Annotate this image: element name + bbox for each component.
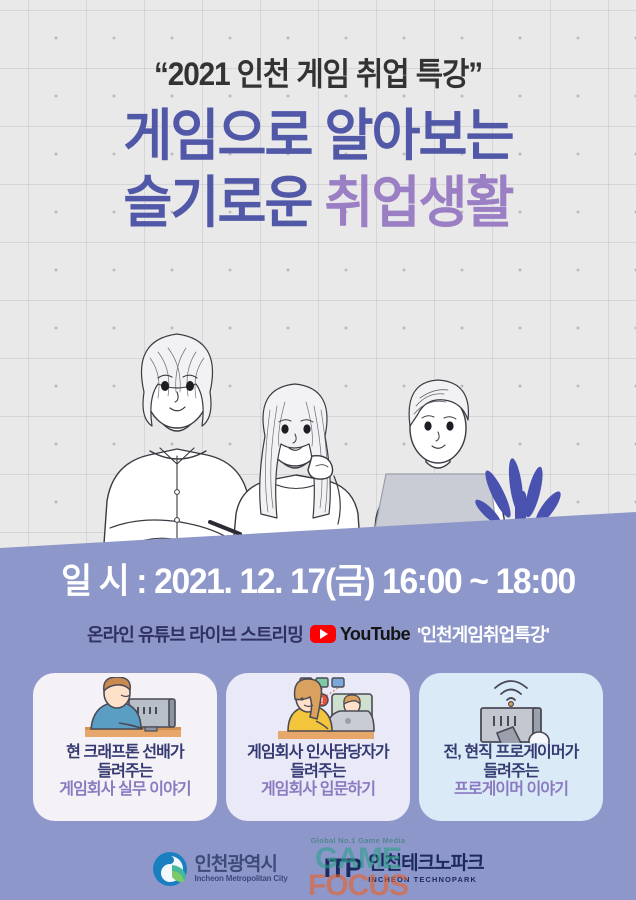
stream-info-row: 온라인 유튜브 라이브 스트리밍 YouTube '인천게임취업특강'	[0, 621, 636, 647]
session-card-2[interactable]: ! 게임회사 인사담당자가 들려주는 게임회사 입문하기	[226, 673, 410, 821]
itp-logo: ITP 인천테크노파크 INCHEON TECHNOPARK	[324, 854, 484, 884]
person-at-desktop-icon	[33, 677, 217, 743]
incheon-swirl-icon	[152, 851, 188, 887]
card-1-line-3: 게임회사 실무 이야기	[33, 781, 217, 800]
youtube-channel-name: '인천게임취업특강'	[417, 621, 549, 647]
video-call-icon: !	[226, 677, 410, 743]
session-card-1[interactable]: 현 크래프톤 선배가 들려주는 게임회사 실무 이야기	[33, 673, 217, 821]
poster-kicker: “2021 인천 게임 취업 특강”	[22, 58, 613, 90]
card-1-line-1: 현 크래프톤 선배가	[33, 744, 217, 763]
card-1-line-2: 들려주는	[33, 763, 217, 782]
poster-title-line1: 게임으로 알아보는	[16, 107, 620, 164]
session-cards: 현 크래프톤 선배가 들려주는 게임회사 실무 이야기 !	[33, 673, 603, 821]
session-card-3[interactable]: 전, 현직 프로게이머가 들려주는 프로게이머 이야기	[419, 673, 603, 821]
incheon-city-logo: 인천광역시 Incheon Metropolitan City	[152, 851, 287, 887]
monitor-wifi-icon	[419, 677, 603, 743]
event-poster: “2021 인천 게임 취업 특강” 게임으로 알아보는 슬기로운 취업생활	[0, 0, 636, 900]
youtube-wordmark: YouTube	[340, 624, 410, 645]
card-3-line-3: 프로게이머 이야기	[419, 781, 603, 800]
poster-title-line2-part-b: 취업생활	[324, 171, 512, 234]
incheon-logo-en: Incheon Metropolitan City	[194, 874, 287, 883]
card-3-line-1: 전, 현직 프로게이머가	[419, 744, 603, 763]
session-card-3-text: 전, 현직 프로게이머가 들려주는 프로게이머 이야기	[419, 744, 603, 800]
poster-title-line2: 슬기로운 취업생활	[16, 174, 620, 231]
card-3-line-2: 들려주는	[419, 763, 603, 782]
event-datetime: 일 시 : 2021. 12. 17(금) 16:00 ~ 18:00	[13, 564, 624, 599]
itp-logo-kr: 인천테크노파크	[368, 854, 483, 875]
card-2-line-3: 게임회사 입문하기	[226, 781, 410, 800]
card-2-line-1: 게임회사 인사담당자가	[226, 744, 410, 763]
footer-logos: 인천광역시 Incheon Metropolitan City ITP 인천테크…	[0, 838, 636, 900]
session-card-2-text: 게임회사 인사담당자가 들려주는 게임회사 입문하기	[226, 744, 410, 800]
poster-title-line2-part-a: 슬기로운	[123, 171, 324, 234]
card-2-line-2: 들려주는	[226, 763, 410, 782]
poster-headline: “2021 인천 게임 취업 특강” 게임으로 알아보는 슬기로운 취업생활	[0, 58, 636, 231]
itp-wordmark: ITP	[324, 855, 362, 882]
incheon-logo-kr: 인천광역시	[194, 855, 287, 875]
session-card-1-text: 현 크래프톤 선배가 들려주는 게임회사 실무 이야기	[33, 744, 217, 800]
stream-label: 온라인 유튜브 라이브 스트리밍	[87, 621, 303, 647]
youtube-logo: YouTube	[310, 624, 410, 645]
youtube-play-icon	[310, 625, 336, 643]
itp-logo-en: INCHEON TECHNOPARK	[368, 875, 483, 884]
